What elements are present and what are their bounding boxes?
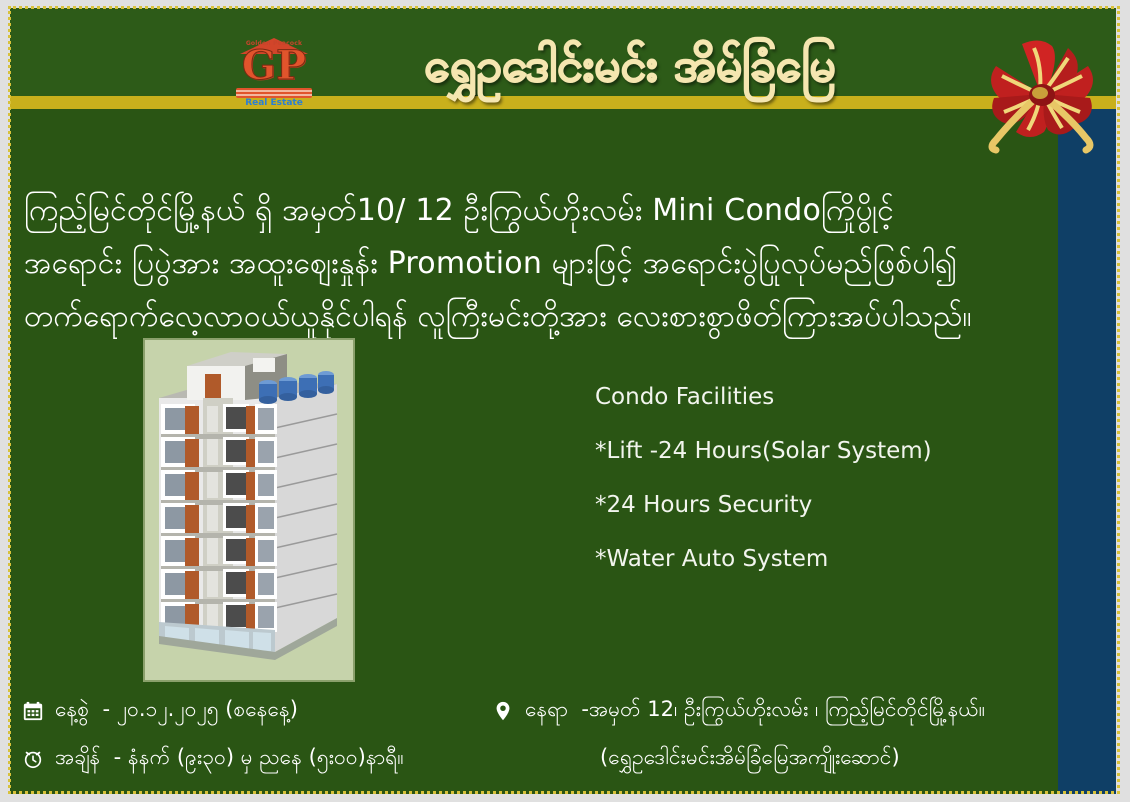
event-date-value: - ၂၀.၁၂.၂၀၂၅ (စနေနေ့) (102, 696, 298, 727)
gift-ribbon-bow-icon (982, 36, 1102, 154)
location-pin-icon (490, 698, 516, 724)
event-time-value: - နံနက် (၉း၃၀) မှ ညနေ (၅း၀၀)နာရီ။ (114, 744, 404, 775)
event-details-row-1: နေ့စွဲ - ၂၀.၁၂.၂၀၂၅ (စနေနေ့) နေရာ -အမှတ်… (20, 688, 1080, 734)
calendar-icon (20, 698, 46, 724)
promotion-poster: Golden Peacock GP Real Estate ရွှေဥဒေါင်… (0, 0, 1130, 802)
event-details-row-2: အချိန် - နံနက် (၉း၃၀) မှ ညနေ (၅း၀၀)နာရီ။… (20, 736, 1080, 782)
event-time-label: အချိန် (55, 744, 100, 775)
logo-brand-bottom: Real Estate (226, 98, 322, 108)
logo-steps-shape (236, 88, 312, 98)
event-date: နေ့စွဲ - ၂၀.၁၂.၂၀၂၅ (စနေနေ့) (20, 696, 490, 727)
event-date-label: နေ့စွဲ (55, 696, 89, 727)
condo-facilities-block: Condo Facilities *Lift -24 Hours(Solar S… (595, 370, 932, 586)
company-logo: Golden Peacock GP Real Estate (226, 38, 322, 108)
page-title: ရွှေဥဒေါင်းမင်း အိမ်ခြံမြေ (330, 30, 930, 100)
announcement-line-3: တက်ရောက်လေ့လာဝယ်ယူနိုင်ပါရန် လူကြီးမင်းတ… (24, 290, 1096, 343)
alarm-clock-icon (20, 746, 46, 772)
event-time: အချိန် - နံနက် (၉း၃၀) မှ ညနေ (၅း၀၀)နာရီ။ (20, 744, 490, 775)
facility-item-water: *Water Auto System (595, 532, 932, 586)
event-place: နေရာ -အမှတ် 12၊ ဦးကြွယ်ဟိုးလမ်း ၊ ကြည့်မ… (490, 696, 1080, 727)
logo-monogram: GP (226, 46, 322, 86)
announcement-line-2: အရောင်း ပြပွဲအား အထူးဈေးနှုန်း Promotion… (24, 237, 1096, 290)
agency-name-cell: (ရွှေဥဒေါင်းမင်းအိမ်ခြံမြေအကျိုးဆောင်) (490, 744, 1080, 775)
agency-name: (ရွှေဥဒေါင်းမင်းအိမ်ခြံမြေအကျိုးဆောင်) (600, 744, 900, 775)
poster-canvas: Golden Peacock GP Real Estate ရွှေဥဒေါင်… (10, 8, 1116, 794)
event-place-label: နေရာ (525, 696, 568, 727)
announcement-line-1: ကြည့်မြင်တိုင်မြို့နယ် ရှိ အမှတ်10/ 12 ဦ… (24, 184, 1096, 237)
event-details: နေ့စွဲ - ၂၀.၁၂.၂၀၂၅ (စနေနေ့) နေရာ -အမှတ်… (20, 688, 1080, 788)
facility-item-lift: *Lift -24 Hours(Solar System) (595, 424, 932, 478)
event-place-value: -အမှတ် 12၊ ဦးကြွယ်ဟိုးလမ်း ၊ ကြည့်မြင်တိ… (581, 696, 985, 727)
condo-building-image (143, 338, 355, 682)
announcement-text: ကြည့်မြင်တိုင်မြို့နယ် ရှိ အမှတ်10/ 12 ဦ… (24, 184, 1096, 343)
facilities-title: Condo Facilities (595, 370, 932, 424)
facility-item-security: *24 Hours Security (595, 478, 932, 532)
